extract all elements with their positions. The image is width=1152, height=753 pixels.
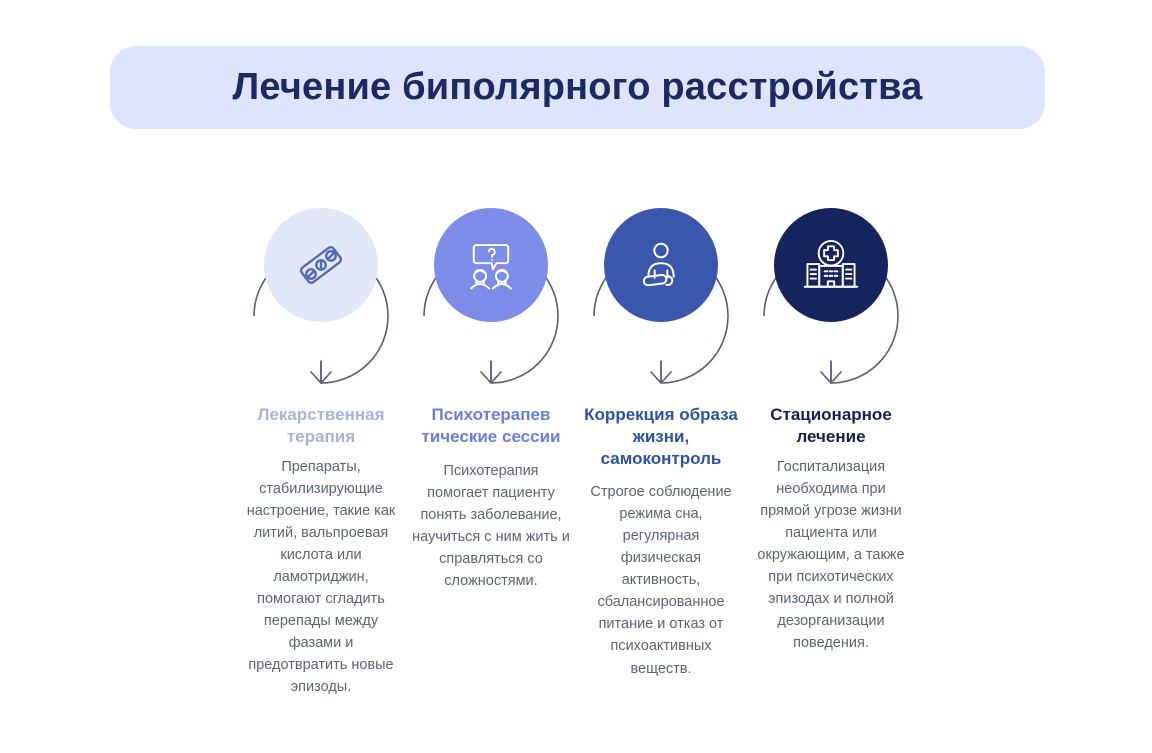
title-banner: Лечение биполярного расстройства (110, 46, 1045, 129)
hospital-cross-icon (802, 236, 860, 294)
step-1: Лекарственная терапия Препараты, стабили… (236, 186, 406, 706)
page-title: Лечение биполярного расстройства (232, 66, 922, 109)
step-1-heading: Лекарственная терапия (239, 404, 404, 448)
step-1-disc (264, 208, 378, 322)
step-1-circle-zone (236, 186, 406, 396)
step-3-disc (604, 208, 718, 322)
step-4-body: Госпитализация необходима при прямой угр… (751, 456, 911, 654)
step-4-circle-zone (746, 186, 916, 396)
step-3: Коррекция образа жизни, самоконтроль Стр… (576, 186, 746, 706)
therapy-conversation-icon (462, 236, 520, 294)
pill-blister-icon (292, 236, 350, 294)
step-3-heading: Коррекция образа жизни, самоконтроль (579, 404, 744, 469)
step-2-heading: Психотерапев тические сессии (409, 404, 574, 448)
steps-row: Лекарственная терапия Препараты, стабили… (236, 186, 916, 706)
step-3-body: Строгое соблюдение режима сна, регулярна… (581, 481, 741, 679)
meditating-person-icon (632, 236, 690, 294)
infographic-canvas: Лечение биполярного расстройства (0, 0, 1152, 753)
step-4: Стационарное лечение Госпитализация необ… (746, 186, 916, 706)
step-1-body: Препараты, стабилизирующие настроение, т… (241, 456, 401, 698)
step-2-disc (434, 208, 548, 322)
step-2-circle-zone (406, 186, 576, 396)
step-4-disc (774, 208, 888, 322)
step-2-body: Психотерапия помогает пациенту понять за… (411, 460, 571, 592)
step-2: Психотерапев тические сессии Психотерапи… (406, 186, 576, 706)
step-3-circle-zone (576, 186, 746, 396)
step-4-heading: Стационарное лечение (749, 404, 914, 448)
